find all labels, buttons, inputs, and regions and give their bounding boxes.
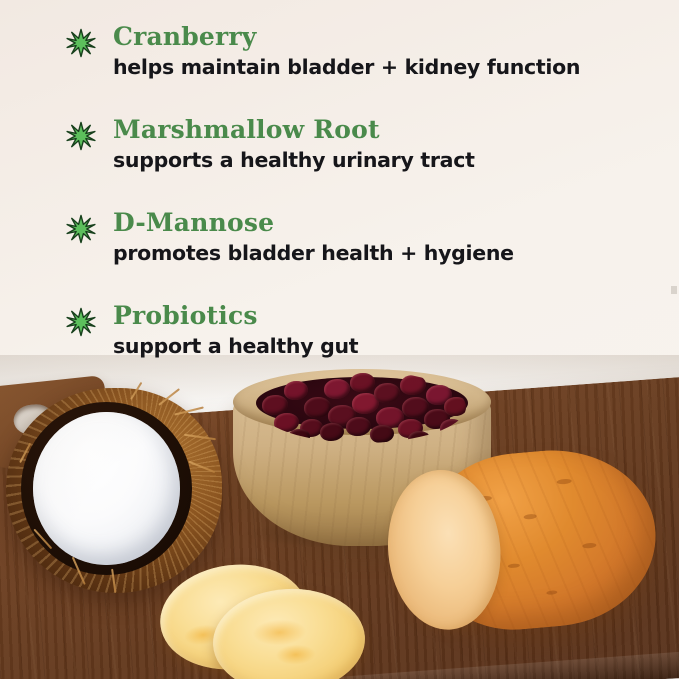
- benefit-title: Cranberry: [113, 22, 679, 52]
- sparkle-star-icon: [66, 121, 96, 151]
- benefit-subtitle: promotes bladder health + hygiene: [113, 240, 679, 266]
- ingredients-photo: [0, 355, 679, 679]
- coconut-flesh: [33, 412, 180, 566]
- sweet-potato: [381, 442, 664, 647]
- sparkle-star-icon: [66, 307, 96, 337]
- sparkle-star-icon: [66, 28, 96, 58]
- sparkle-star-icon: [66, 214, 96, 244]
- benefit-item-cranberry: Cranberry helps maintain bladder + kidne…: [0, 22, 679, 115]
- benefit-title: Marshmallow Root: [113, 115, 679, 145]
- benefit-subtitle: supports a healthy urinary tract: [113, 147, 679, 173]
- benefit-subtitle: support a healthy gut: [113, 333, 679, 359]
- benefit-item-probiotics: Probiotics support a healthy gut: [0, 301, 679, 394]
- benefit-item-marshmallow-root: Marshmallow Root supports a healthy urin…: [0, 115, 679, 208]
- benefit-item-d-mannose: D-Mannose promotes bladder health + hygi…: [0, 208, 679, 301]
- benefit-title: D-Mannose: [113, 208, 679, 238]
- product-benefits-graphic: Cranberry helps maintain bladder + kidne…: [0, 0, 679, 679]
- benefit-subtitle: helps maintain bladder + kidney function: [113, 54, 679, 80]
- benefit-title: Probiotics: [113, 301, 679, 331]
- coconut-half: [6, 388, 222, 593]
- benefits-list: Cranberry helps maintain bladder + kidne…: [0, 0, 679, 394]
